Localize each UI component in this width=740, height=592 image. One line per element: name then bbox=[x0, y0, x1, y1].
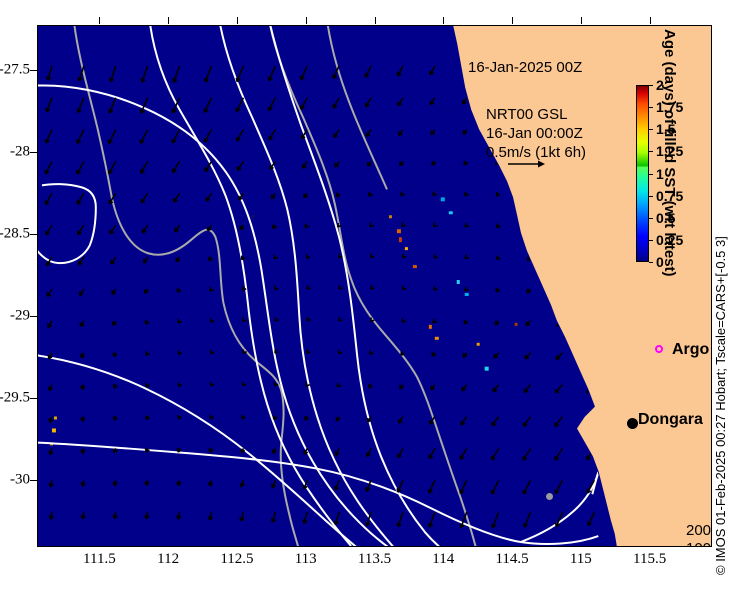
y-tick-mark bbox=[30, 398, 37, 399]
argo-marker-icon[interactable] bbox=[655, 345, 663, 353]
colorbar-tick-mark bbox=[649, 107, 653, 108]
date-annotation: 16-Jan-2025 00Z bbox=[468, 59, 582, 76]
y-tick-mark bbox=[30, 480, 37, 481]
colorbar-tick-mark bbox=[649, 85, 653, 86]
x-tick-label: 115 bbox=[570, 551, 592, 568]
colorbar-tick-mark bbox=[649, 240, 653, 241]
y-tick-label: -29 bbox=[0, 308, 30, 325]
colorbar-gradient bbox=[636, 85, 649, 262]
source-annotation: NRT00 GSL 16-Jan 00:00Z 0.5m/s (1kt 6h) bbox=[486, 105, 586, 162]
x-tick-mark bbox=[168, 17, 169, 24]
colorbar-title: Age (days) of filled SST (wrt latest) bbox=[661, 29, 678, 269]
station-marker-icon[interactable] bbox=[546, 493, 553, 500]
depth-legend-shallow-label: 200m bbox=[686, 522, 712, 540]
x-tick-label: 115.5 bbox=[633, 551, 666, 568]
x-tick-label: 112 bbox=[157, 551, 179, 568]
map-plot-area[interactable]: 16-Jan-2025 00Z NRT00 GSL 16-Jan 00:00Z … bbox=[37, 25, 712, 547]
x-tick-mark bbox=[581, 17, 582, 24]
colorbar-tick-mark bbox=[649, 218, 653, 219]
source-line-2: 16-Jan 00:00Z bbox=[486, 124, 586, 143]
sst-age-map-figure: 16-Jan-2025 00Z NRT00 GSL 16-Jan 00:00Z … bbox=[0, 0, 740, 592]
depth-legend-deep-label: 1000m bbox=[686, 540, 712, 547]
y-tick-label: -28.5 bbox=[0, 226, 30, 243]
x-tick-mark bbox=[237, 17, 238, 24]
y-tick-label: -30 bbox=[0, 472, 30, 489]
y-tick-mark bbox=[30, 70, 37, 71]
y-tick-label: -28 bbox=[0, 144, 30, 161]
x-tick-mark bbox=[306, 17, 307, 24]
x-tick-mark bbox=[512, 17, 513, 24]
x-tick-label: 114 bbox=[432, 551, 454, 568]
x-tick-mark bbox=[375, 17, 376, 24]
x-tick-mark bbox=[99, 17, 100, 24]
y-tick-mark bbox=[30, 152, 37, 153]
dongara-marker-label: Dongara bbox=[638, 411, 703, 429]
y-tick-label: -29.5 bbox=[0, 390, 30, 407]
x-tick-label: 113.5 bbox=[358, 551, 391, 568]
dongara-marker-icon[interactable] bbox=[627, 418, 638, 429]
argo-marker-label: Argo bbox=[672, 341, 709, 359]
y-tick-mark bbox=[30, 234, 37, 235]
x-tick-mark bbox=[443, 17, 444, 24]
x-tick-label: 114.5 bbox=[495, 551, 528, 568]
y-tick-label: -27.5 bbox=[0, 62, 30, 79]
source-line-1: NRT00 GSL bbox=[486, 105, 586, 124]
x-tick-label: 112.5 bbox=[220, 551, 253, 568]
y-tick-mark bbox=[30, 316, 37, 317]
colorbar-tick-mark bbox=[649, 151, 653, 152]
colorbar-tick-mark bbox=[649, 196, 653, 197]
reference-vector-arrow bbox=[506, 158, 546, 170]
colorbar[interactable]: 21.751.51.2510.750.50.250 bbox=[636, 85, 649, 262]
credit-text: © IMOS 01-Feb-2025 00:27 Hobart; Tscale=… bbox=[713, 236, 728, 575]
colorbar-tick-mark bbox=[649, 262, 653, 263]
colorbar-tick-mark bbox=[649, 129, 653, 130]
x-tick-label: 111.5 bbox=[83, 551, 116, 568]
depth-contour-legend: 200m 1000m bbox=[686, 522, 712, 547]
x-tick-label: 113 bbox=[295, 551, 317, 568]
colorbar-tick-mark bbox=[649, 174, 653, 175]
ocean-sst-age-raster bbox=[38, 26, 711, 546]
x-tick-mark bbox=[650, 17, 651, 24]
